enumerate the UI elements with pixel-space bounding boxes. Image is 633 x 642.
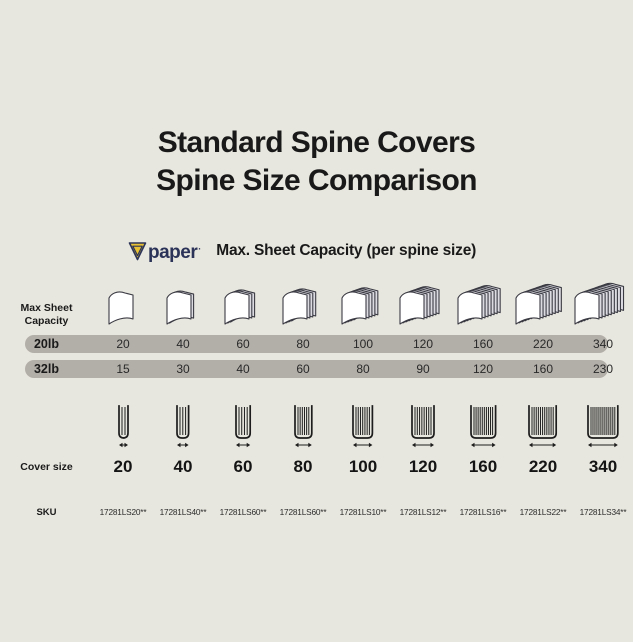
- cover-size-row: Cover size 20406080100120160220340: [0, 454, 633, 480]
- paper-stack-cells: [93, 282, 633, 328]
- sku-value: 17281LS34**: [573, 507, 633, 517]
- sku-cells: 17281LS20**17281LS40**17281LS60**17281LS…: [93, 507, 633, 517]
- spine-channel-icon: [213, 402, 273, 452]
- cover-size-cells: 20406080100120160220340: [93, 457, 633, 477]
- paper-stack-icon: [512, 282, 572, 328]
- spine-channel-icon: [333, 402, 393, 452]
- cover-size-value: 160: [453, 457, 513, 477]
- capacity-row-20lb: 20lb 20406080100120160220340: [0, 335, 633, 353]
- vpaper-logo: paper ·: [128, 241, 200, 261]
- weight-label-32lb: 32lb: [0, 363, 93, 376]
- sku-value: 17281LS12**: [393, 507, 453, 517]
- subtitle-label: Max. Sheet Capacity (per spine size): [216, 242, 476, 260]
- sku-value: 17281LS60**: [273, 507, 333, 517]
- cover-size-value: 100: [333, 457, 393, 477]
- spine-channel-icon: [513, 402, 573, 452]
- sku-value: 17281LS40**: [153, 507, 213, 517]
- max-sheet-capacity-line1: Max Sheet: [0, 302, 93, 315]
- spine-channel-icon: [93, 402, 153, 452]
- capacity-value-32lb: 80: [333, 362, 393, 376]
- capacity-value-32lb: 230: [573, 362, 633, 376]
- capacity-value-20lb: 60: [213, 337, 273, 351]
- title-line-2: Spine Size Comparison: [0, 162, 633, 200]
- sku-value: 17281LS20**: [93, 507, 153, 517]
- max-sheet-capacity-label: Max Sheet Capacity: [0, 302, 93, 328]
- weight-label-20lb: 20lb: [0, 338, 93, 351]
- max-sheet-capacity-line2: Capacity: [0, 315, 93, 328]
- cover-size-value: 220: [513, 457, 573, 477]
- cover-size-value: 80: [273, 457, 333, 477]
- sku-value: 17281LS22**: [513, 507, 573, 517]
- paper-stack-icon: [392, 282, 452, 328]
- capacity-value-20lb: 120: [393, 337, 453, 351]
- spine-channel-icon: [273, 402, 333, 452]
- capacity-value-32lb: 160: [513, 362, 573, 376]
- capacity-cells-20lb: 20406080100120160220340: [93, 337, 633, 351]
- page-title: Standard Spine Covers Spine Size Compari…: [0, 124, 633, 200]
- spine-comparison-table: Max Sheet Capacity 20lb 2040608010012016…: [0, 276, 633, 524]
- cover-size-value: 340: [573, 457, 633, 477]
- brand-subtitle-row: paper · Max. Sheet Capacity (per spine s…: [128, 241, 476, 261]
- capacity-value-20lb: 340: [573, 337, 633, 351]
- spine-channel-icon: [573, 402, 633, 452]
- spine-channel-icon: [453, 402, 513, 452]
- sku-value: 17281LS16**: [453, 507, 513, 517]
- capacity-value-32lb: 40: [213, 362, 273, 376]
- paper-stack-icon: [332, 282, 392, 328]
- capacity-value-20lb: 40: [153, 337, 213, 351]
- cover-size-value: 20: [93, 457, 153, 477]
- paper-stack-icon: [452, 282, 512, 328]
- sku-value: 17281LS10**: [333, 507, 393, 517]
- logo-wordmark: paper: [148, 243, 197, 262]
- paper-stack-icon: [93, 282, 153, 328]
- spine-channel-icon: [153, 402, 213, 452]
- spine-icon-cells: [93, 402, 633, 452]
- capacity-value-20lb: 80: [273, 337, 333, 351]
- cover-size-value: 40: [153, 457, 213, 477]
- cover-size-value: 120: [393, 457, 453, 477]
- logo-trademark: ·: [198, 245, 201, 254]
- capacity-value-20lb: 220: [513, 337, 573, 351]
- capacity-value-32lb: 30: [153, 362, 213, 376]
- capacity-row-32lb: 32lb 153040608090120160230: [0, 360, 633, 378]
- paper-stack-row: Max Sheet Capacity: [0, 276, 633, 328]
- sku-label: SKU: [0, 506, 93, 519]
- title-line-1: Standard Spine Covers: [0, 124, 633, 162]
- capacity-value-32lb: 15: [93, 362, 153, 376]
- capacity-value-32lb: 120: [453, 362, 513, 376]
- capacity-value-32lb: 90: [393, 362, 453, 376]
- paper-stack-icon: [571, 282, 633, 328]
- capacity-cells-32lb: 153040608090120160230: [93, 362, 633, 376]
- comparison-infographic: Standard Spine Covers Spine Size Compari…: [0, 0, 633, 642]
- capacity-value-32lb: 60: [273, 362, 333, 376]
- spine-channel-icon: [393, 402, 453, 452]
- capacity-value-20lb: 20: [93, 337, 153, 351]
- cover-size-value: 60: [213, 457, 273, 477]
- paper-stack-icon: [153, 282, 213, 328]
- cover-size-label: Cover size: [0, 461, 93, 474]
- paper-stack-icon: [213, 282, 273, 328]
- capacity-value-20lb: 160: [453, 337, 513, 351]
- paper-stack-icon: [272, 282, 332, 328]
- sku-value: 17281LS60**: [213, 507, 273, 517]
- logo-v-icon: [128, 241, 147, 261]
- capacity-value-20lb: 100: [333, 337, 393, 351]
- sku-row: SKU 17281LS20**17281LS40**17281LS60**172…: [0, 500, 633, 524]
- spine-icon-row: [0, 394, 633, 452]
